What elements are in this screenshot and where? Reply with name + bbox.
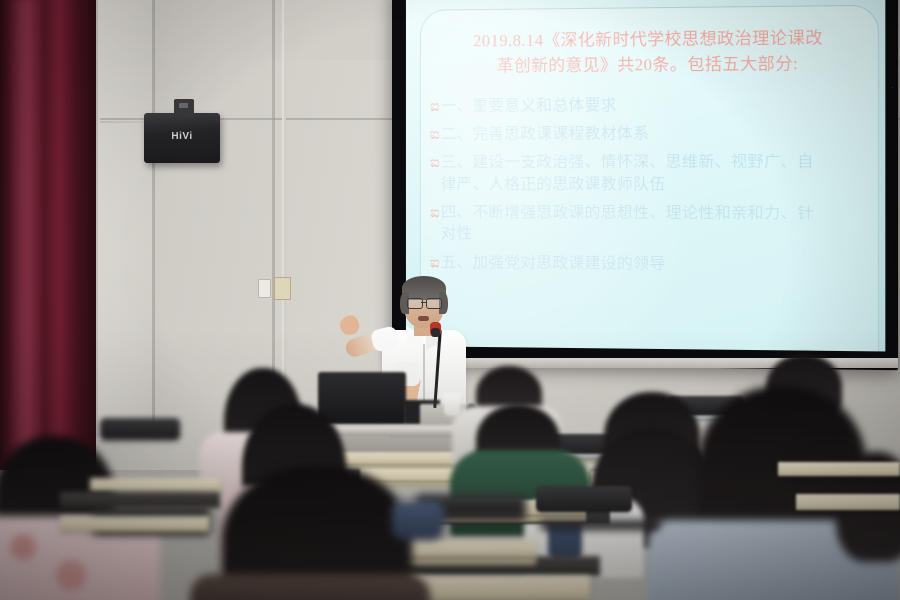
presenter-glasses-left-lens	[407, 298, 423, 309]
list-item	[190, 574, 430, 600]
presenter-mouth	[418, 316, 429, 321]
lecture-hall-photo: HiVi 2019.8.14《深化新时代学校思想政治理论课改 革创新的意见》共2…	[0, 0, 900, 600]
slide-bullet-list: ಐ 一、重要意义和总体要求 ಐ 二、完善思政课课程教材体系 ಐ	[430, 93, 868, 276]
water-cup-lid	[442, 392, 462, 397]
chair-row3-a	[536, 486, 632, 512]
bullet-text: 二、完善思政课课程教材体系	[441, 123, 650, 145]
bullet-text: 四、不断增强思政课的思想性、理论性和亲和力、针 对性	[441, 202, 814, 247]
microphone-capsule	[431, 328, 440, 337]
presenter-glasses-bridge	[421, 302, 426, 303]
bullet-text: 一、重要意义和总体要求	[441, 94, 617, 116]
speaker-cable	[100, 121, 146, 123]
bullet-marker-icon: ಐ	[430, 124, 441, 145]
desk-right-far	[778, 462, 900, 476]
wall-seam-vertical-2	[272, 0, 275, 430]
list-item	[10, 534, 36, 560]
chair-row4-rail	[540, 520, 660, 530]
floor-riser-left	[60, 492, 220, 508]
curtain	[0, 0, 96, 470]
slide-bullet-3: ಐ 三、建设一支政治强、情怀深、思维新、视野广、自 律严、人格正的思政课教师队伍	[430, 152, 868, 196]
list-item	[392, 500, 444, 540]
presenter-glasses-right-lens	[426, 298, 442, 309]
slide-content: 2019.8.14《深化新时代学校思想政治理论课改 革创新的意见》共20条。包括…	[406, 0, 885, 351]
wall-conduit	[282, 0, 286, 380]
slide-bullet-5: ಐ 五、加强党对思政课建设的领导	[430, 252, 868, 276]
curtain-sheen	[10, 0, 44, 470]
slide-title-line-2: 革创新的意见》共20条。包括五大部分:	[436, 51, 862, 79]
slide-title: 2019.8.14《深化新时代学校思想政治理论课改 革创新的意见》共20条。包括…	[436, 26, 862, 80]
projection-screen-frame: 2019.8.14《深化新时代学校思想政治理论课改 革创新的意见》共20条。包括…	[392, 0, 898, 370]
slide-bullet-4: ಐ 四、不断增强思政课的思想性、理论性和亲和力、针 对性	[430, 202, 868, 247]
wall-pillar	[98, 0, 154, 440]
desk-left-mid	[60, 516, 210, 532]
bullet-marker-icon: ಐ	[430, 252, 441, 273]
podium-monitor	[318, 372, 406, 426]
bullet-text: 三、建设一支政治强、情怀深、思维新、视野广、自 律严、人格正的思政课教师队伍	[441, 152, 814, 196]
slide-bullet-2: ಐ 二、完善思政课课程教材体系	[430, 122, 868, 145]
hivi-brand-label: HiVi	[144, 131, 220, 142]
bullet-marker-icon: ಐ	[430, 152, 441, 173]
bullet-text: 五、加强党对思政课建设的领导	[441, 252, 666, 275]
wall-seam-vertical	[152, 0, 155, 430]
projection-screen-surface: 2019.8.14《深化新时代学校思想政治理论课改 革创新的意见》共20条。包括…	[406, 0, 885, 351]
desk-right-mid	[796, 494, 900, 510]
list-item	[56, 560, 86, 590]
chair-left-far	[100, 418, 180, 440]
desk-left-far	[90, 478, 220, 492]
slide-bullet-1: ಐ 一、重要意义和总体要求	[430, 93, 868, 117]
speaker-bracket-nub	[179, 103, 188, 108]
light-switch-beige[interactable]	[274, 277, 291, 300]
slide-title-line-1: 2019.8.14《深化新时代学校思想政治理论课改	[436, 26, 862, 55]
bullet-marker-icon: ಐ	[430, 202, 441, 223]
bullet-marker-icon: ಐ	[430, 95, 441, 116]
light-switch-white[interactable]	[258, 279, 271, 298]
